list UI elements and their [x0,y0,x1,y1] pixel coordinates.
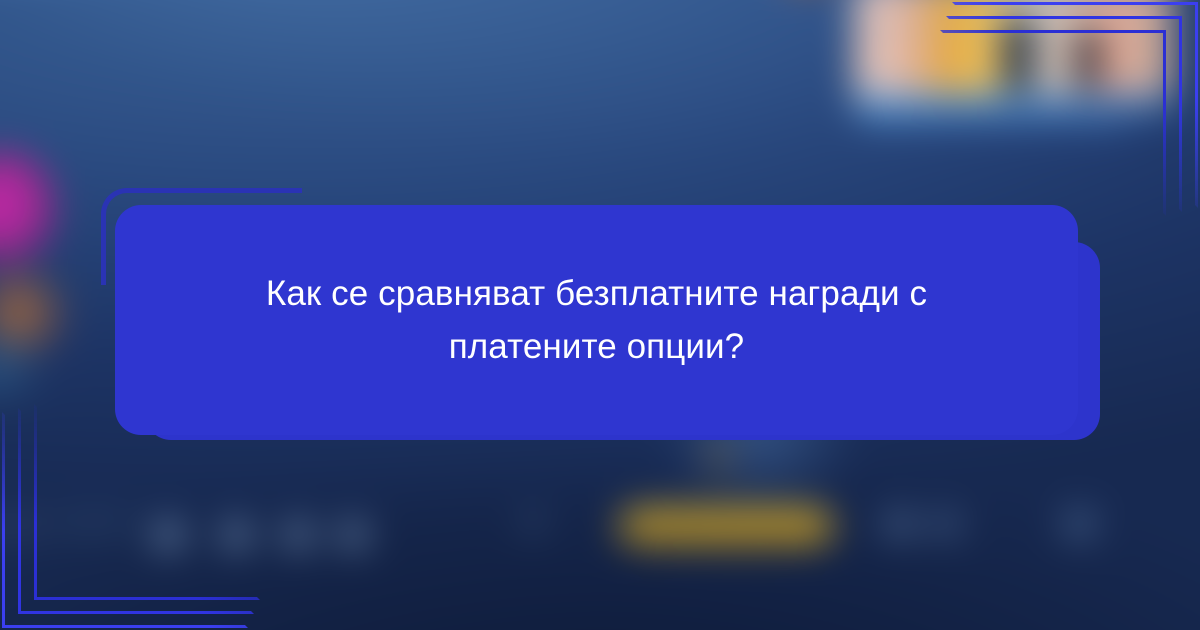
screenshot-canvas: Как се сравняват безплатните награди с п… [0,0,1200,630]
quote-question-text: Как се сравняват безплатните награди с п… [173,267,1021,373]
quote-card: Как се сравняват безплатните награди с п… [115,205,1078,435]
